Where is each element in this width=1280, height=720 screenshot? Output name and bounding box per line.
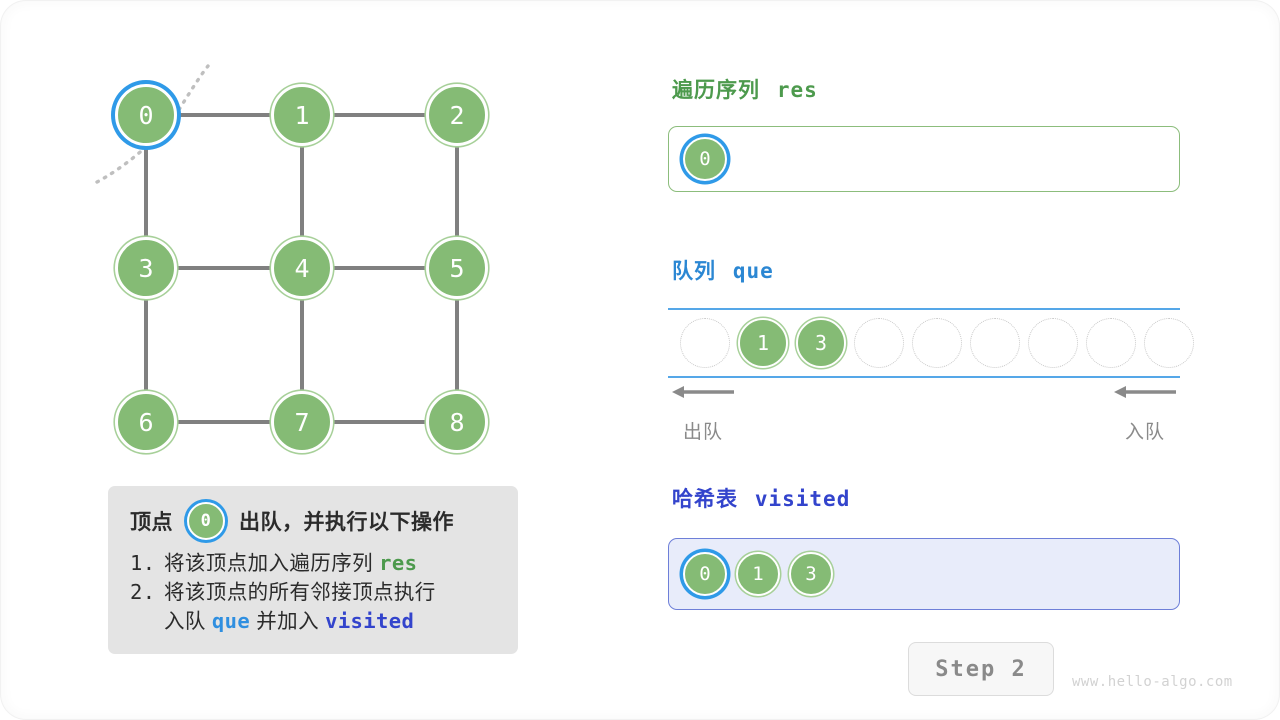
que-slot-1: 1 [738, 318, 788, 368]
que-slot-container: 13 [668, 308, 1180, 378]
caption-step-list: 1. 将该顶点加入遍历序列 res 2. 将该顶点的所有邻接顶点执行 入队 qu… [130, 549, 498, 636]
que-direction-indicators: 出队 入队 [668, 384, 1180, 446]
caption-step-1-text: 将该顶点加入遍历序列 [164, 552, 373, 575]
graph-node-8[interactable]: 8 [426, 391, 488, 453]
res-slot-0: 0 [683, 137, 727, 181]
visited-panel-title: 哈希表 visited [672, 483, 850, 513]
res-slot-container: 0 [668, 126, 1180, 192]
graph-node-5[interactable]: 5 [426, 237, 488, 299]
caption-step-2-line2-middle: 并加入 [256, 610, 319, 633]
caption-headline: 顶点 0 出队，并执行以下操作 [130, 502, 498, 540]
caption-step-2-text: 将该顶点的所有邻接顶点执行 [164, 581, 436, 604]
que-slot-2: 3 [796, 318, 846, 368]
caption-step-1-code: res [379, 551, 417, 575]
visited-title-var: visited [755, 487, 851, 511]
graph-node-3[interactable]: 3 [115, 237, 177, 299]
graph-node-0[interactable]: 0 [115, 84, 177, 146]
que-panel-title: 队列 que [672, 255, 774, 285]
que-slot-6 [1028, 318, 1078, 368]
caption-head-suffix: 出队，并执行以下操作 [239, 506, 454, 536]
caption-step-2-number: 2. [130, 578, 164, 636]
que-slot-0 [680, 318, 730, 368]
caption-step-2: 2. 将该顶点的所有邻接顶点执行 入队 que 并加入 visited [130, 578, 498, 636]
que-slot-5 [970, 318, 1020, 368]
dequeue-indicator: 出队 [670, 384, 736, 444]
visited-slot-2: 3 [789, 552, 833, 596]
caption-step-2-body: 将该顶点的所有邻接顶点执行 入队 que 并加入 visited [164, 578, 436, 636]
dequeue-label: 出队 [670, 417, 736, 444]
caption-step-2-code-que: que [212, 609, 250, 633]
res-title-cn: 遍历序列 [672, 79, 760, 102]
visited-slot-container: 013 [668, 538, 1180, 610]
res-title-var: res [777, 78, 818, 102]
que-title-cn: 队列 [672, 260, 716, 283]
enqueue-indicator: 入队 [1112, 384, 1178, 444]
caption-head-prefix: 顶点 [130, 506, 173, 536]
caption-box: 顶点 0 出队，并执行以下操作 1. 将该顶点加入遍历序列 res 2. 将该顶… [108, 486, 518, 654]
graph-node-6[interactable]: 6 [115, 391, 177, 453]
que-title-var: que [733, 259, 774, 283]
graph-node-4[interactable]: 4 [271, 237, 333, 299]
que-slot-7 [1086, 318, 1136, 368]
que-slot-8 [1144, 318, 1194, 368]
enqueue-arrow-icon [1112, 384, 1178, 400]
que-slot-4 [912, 318, 962, 368]
visited-slot-1: 1 [736, 552, 780, 596]
visited-slot-0: 0 [683, 552, 727, 596]
dequeue-arrow-icon [670, 384, 736, 400]
graph-diagram: 012345678 [0, 0, 640, 500]
visited-title-cn: 哈希表 [672, 488, 738, 511]
graph-node-1[interactable]: 1 [271, 84, 333, 146]
caption-step-1-number: 1. [130, 549, 164, 578]
caption-step-2-code-visited: visited [325, 609, 414, 633]
graph-node-7[interactable]: 7 [271, 391, 333, 453]
caption-node-badge: 0 [187, 502, 225, 540]
res-panel-title: 遍历序列 res [672, 74, 818, 104]
graph-node-2[interactable]: 2 [426, 84, 488, 146]
watermark: www.hello-algo.com [1072, 674, 1233, 690]
enqueue-label: 入队 [1112, 417, 1178, 444]
figure-canvas: 012345678 顶点 0 出队，并执行以下操作 1. 将该顶点加入遍历序列 … [0, 0, 1280, 720]
que-slot-3 [854, 318, 904, 368]
caption-step-1-body: 将该顶点加入遍历序列 res [164, 549, 417, 578]
caption-step-2-line2-before: 入队 [164, 610, 206, 633]
step-badge: Step 2 [908, 642, 1054, 696]
caption-step-1: 1. 将该顶点加入遍历序列 res [130, 549, 498, 578]
